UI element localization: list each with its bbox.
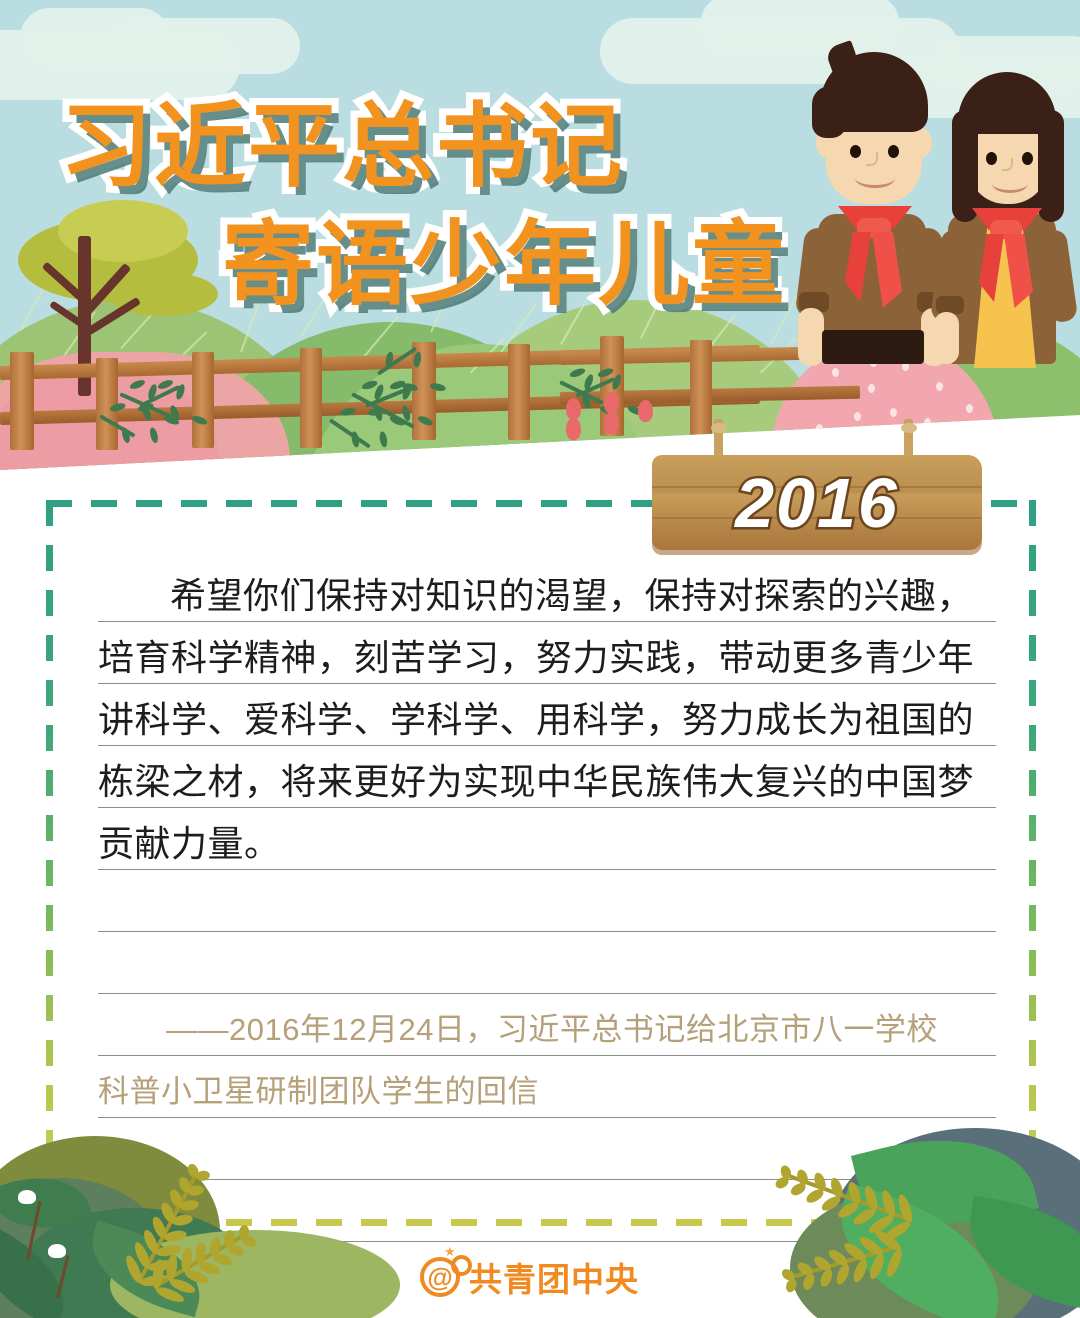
cloud-icon xyxy=(110,18,300,74)
year-sign: 2016 xyxy=(652,455,982,550)
mushroom-dot xyxy=(936,382,943,391)
attribution-text: ——2016年12月24日，习近平总书记给北京市八一学校 xyxy=(98,1011,996,1049)
attribution-line: ——2016年12月24日，习近平总书记给北京市八一学校 xyxy=(98,994,996,1056)
white-flower-icon xyxy=(18,1190,36,1204)
letter-line xyxy=(98,870,996,932)
field-flower xyxy=(566,418,581,440)
foliage-bottom-right xyxy=(710,1058,1080,1318)
letter-line: 贡献力量。 xyxy=(98,808,996,870)
at-glyph: @ xyxy=(427,1262,452,1293)
mushroom-dot xyxy=(966,404,973,413)
page-title-line-1: 习近平总书记 xyxy=(60,72,624,205)
mushroom-dot xyxy=(914,442,921,451)
letter-line-text: 培育科学精神，刻苦学习，努力实践，带动更多青少年 xyxy=(98,639,996,677)
letter-line: 希望你们保持对知识的渴望，保持对探索的兴趣， xyxy=(98,560,996,622)
poster-root: 习近平总书记 寄语少年儿童 2016 希望你们保持对知识的渴望，保持对探索的兴趣… xyxy=(0,0,1080,1318)
mushroom-dot xyxy=(788,438,795,447)
mushroom-dot xyxy=(956,434,963,443)
star-icon: ★ xyxy=(444,1244,456,1260)
sign-knot xyxy=(901,423,917,433)
mushroom-dot xyxy=(890,408,897,417)
page-title-line-2: 寄语少年儿童 xyxy=(222,190,786,323)
field-flower xyxy=(638,400,653,422)
cloud-icon xyxy=(700,0,900,56)
fern-leaflet xyxy=(195,1170,211,1182)
mushroom-dot xyxy=(816,424,823,433)
letter-line-text: 栋梁之材，将来更好为实现中华民族伟大复兴的中国梦 xyxy=(98,763,996,801)
letter-line: 讲科学、爱科学、学科学、用科学，努力成长为祖国的 xyxy=(98,684,996,746)
letter-line-text: 希望你们保持对知识的渴望，保持对探索的兴趣， xyxy=(98,577,996,615)
white-flower-icon xyxy=(48,1244,66,1258)
footer-logo-text: 共青团中央 xyxy=(469,1253,639,1301)
mushroom-dot xyxy=(880,436,887,445)
mushroom-dot xyxy=(854,412,861,421)
foliage-bottom-left xyxy=(0,1078,420,1318)
mushroom-dot xyxy=(834,442,841,451)
footer-logo[interactable]: @ ★ 共青团中央 xyxy=(420,1253,639,1301)
letter-line xyxy=(98,932,996,994)
fence-post xyxy=(192,352,214,448)
letter-line: 栋梁之材，将来更好为实现中华民族伟大复兴的中国梦 xyxy=(98,746,996,808)
field-flower xyxy=(604,392,619,414)
mushroom-dot xyxy=(832,368,839,377)
mushroom-dot xyxy=(924,418,931,427)
letter-line: 培育科学精神，刻苦学习，努力实践，带动更多青少年 xyxy=(98,622,996,684)
sign-knot xyxy=(711,423,727,433)
fence-post xyxy=(508,344,530,440)
letter-line-text: 贡献力量。 xyxy=(98,825,996,863)
field-flower xyxy=(604,412,619,434)
letter-line-text: 讲科学、爱科学、学科学、用科学，努力成长为祖国的 xyxy=(98,701,996,739)
fence-post xyxy=(10,352,34,450)
fence-post xyxy=(300,348,322,448)
at-symbol-icon: @ ★ xyxy=(420,1257,460,1297)
fence-post xyxy=(690,340,712,436)
field-flower xyxy=(566,398,581,420)
mushroom-dot xyxy=(868,384,875,393)
year-label: 2016 xyxy=(652,455,982,550)
